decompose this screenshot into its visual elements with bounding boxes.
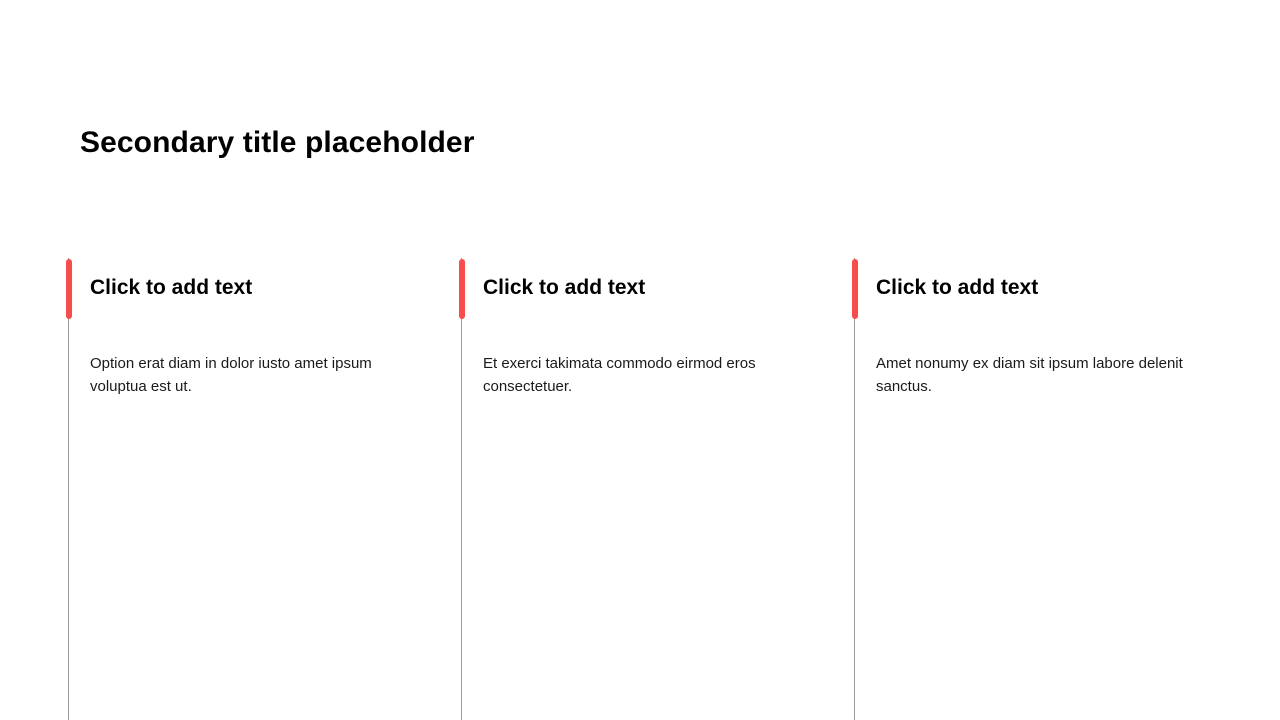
column-heading[interactable]: Click to add text bbox=[876, 275, 1226, 301]
slide-canvas: Secondary title placeholder Click to add… bbox=[0, 0, 1280, 720]
accent-bar-icon bbox=[459, 259, 465, 319]
column-divider-line bbox=[854, 258, 855, 720]
column-divider-line bbox=[68, 258, 69, 720]
content-column: Click to add text Option erat diam in do… bbox=[68, 258, 461, 720]
column-heading[interactable]: Click to add text bbox=[483, 275, 833, 301]
column-body-text[interactable]: Amet nonumy ex diam sit ipsum labore del… bbox=[876, 352, 1206, 398]
content-column: Click to add text Et exerci takimata com… bbox=[461, 258, 854, 720]
three-column-layout: Click to add text Option erat diam in do… bbox=[68, 258, 1248, 720]
column-body-text[interactable]: Et exerci takimata commodo eirmod eros c… bbox=[483, 352, 813, 398]
column-divider-line bbox=[461, 258, 462, 720]
accent-bar-icon bbox=[66, 259, 72, 319]
column-heading[interactable]: Click to add text bbox=[90, 275, 440, 301]
accent-bar-icon bbox=[852, 259, 858, 319]
content-column: Click to add text Amet nonumy ex diam si… bbox=[854, 258, 1247, 720]
column-body-text[interactable]: Option erat diam in dolor iusto amet ips… bbox=[90, 352, 420, 398]
page-title[interactable]: Secondary title placeholder bbox=[80, 124, 1200, 162]
